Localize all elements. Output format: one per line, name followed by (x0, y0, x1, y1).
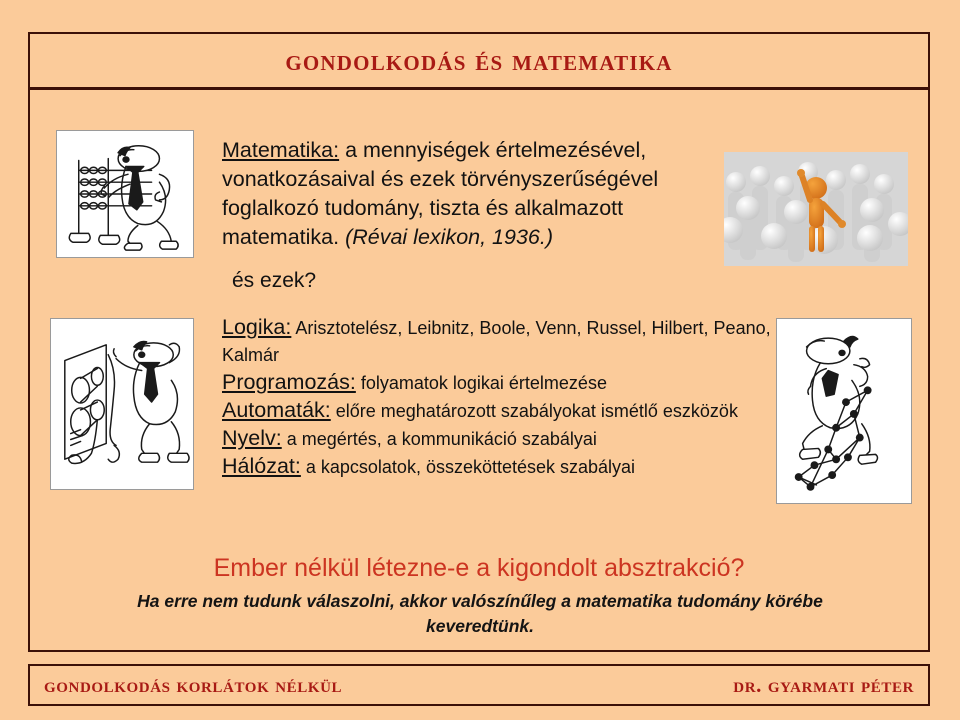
list-item-label: Nyelv: (222, 426, 282, 450)
slide-footer: Gondolkodás korlátok nélkül Dr. Gyarmati… (28, 664, 930, 706)
list-item-text: a megértés, a kommunikáció szabályai (282, 429, 597, 449)
conclusion-question: Ember nélkül létezne-e a kigondolt abszt… (28, 553, 930, 583)
network-graph-cartoon-image (776, 318, 912, 504)
list-item-label: Programozás: (222, 370, 356, 394)
abacus-cartoon-image (56, 130, 194, 258)
list-item-label: Logika: (222, 315, 291, 339)
list-item-text: a kapcsolatok, összeköttetések szabályai (301, 457, 635, 477)
definition-label: Matematika: (222, 138, 339, 162)
conclusion-note: Ha erre nem tudunk válaszolni, akkor val… (90, 589, 870, 639)
slide-canvas: Gondolkodás és matematika (0, 0, 960, 720)
crowd-standout-image (724, 152, 908, 266)
category-list: Logika: Arisztotelész, Leibnitz, Boole, … (222, 314, 782, 481)
prompt-text: és ezek? (232, 268, 316, 294)
list-item-label: Automaták: (222, 398, 331, 422)
list-item-text: előre meghatározott szabályokat ismétlő … (331, 401, 738, 421)
footer-right-text: Dr. Gyarmati Péter (733, 675, 914, 696)
definition-paragraph: Matematika: a mennyiségek értelmezésével… (222, 136, 722, 252)
list-item: Programozás: folyamatok logikai értelmez… (222, 369, 782, 397)
list-item: Nyelv: a megértés, a kommunikáció szabál… (222, 425, 782, 453)
list-item-text: folyamatok logikai értelmezése (356, 373, 607, 393)
list-item-label: Hálózat: (222, 454, 301, 478)
footer-left-text: Gondolkodás korlátok nélkül (44, 675, 342, 696)
list-item: Hálózat: a kapcsolatok, összeköttetések … (222, 453, 782, 481)
pulley-machine-cartoon-image (50, 318, 194, 490)
page-title: Gondolkodás és matematika (285, 46, 672, 76)
list-item: Logika: Arisztotelész, Leibnitz, Boole, … (222, 314, 782, 369)
slide-title-band: Gondolkodás és matematika (28, 32, 930, 90)
list-item: Automaták: előre meghatározott szabályok… (222, 397, 782, 425)
list-item-text: Arisztotelész, Leibnitz, Boole, Venn, Ru… (222, 318, 771, 365)
definition-citation: (Révai lexikon, 1936.) (345, 225, 553, 249)
